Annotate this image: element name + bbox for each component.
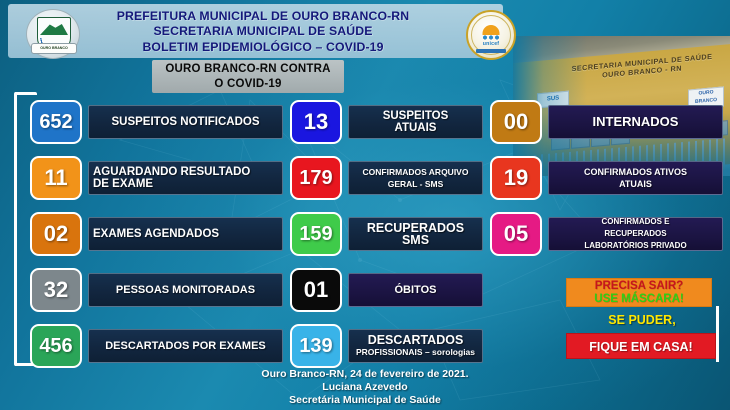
- stat-label-line-3: LABORATÓRIOS PRIVADO: [553, 240, 718, 252]
- stat-label-line-1: EXAMES AGENDADOS: [93, 228, 278, 240]
- stat-label-descartados-por-exames: DESCARTADOS POR EXAMES: [88, 329, 283, 363]
- stat-label-line-2: ATUAIS: [353, 122, 478, 134]
- stat-value-descartados-por-exames: 456: [30, 324, 82, 368]
- stat-value-pessoas-monitoradas: 32: [30, 268, 82, 312]
- stat-label-confirmados-e: CONFIRMADOS ERECUPERADOSLABORATÓRIOS PRI…: [548, 217, 723, 251]
- stat-label-line-1: CONFIRMADOS E: [553, 216, 718, 228]
- stat-label-text: ÓBITOS: [353, 284, 478, 296]
- stat-label-line-1: ÓBITOS: [353, 284, 478, 296]
- stat-value-suspeitos: 13: [290, 100, 342, 144]
- stat-label-line-1: CONFIRMADOS ARQUIVO: [353, 166, 478, 178]
- stat-label-line-2: ATUAIS: [553, 178, 718, 190]
- prevention-messages: PRECISA SAIR? USE MÁSCARA! SE PUDER, FIQ…: [566, 278, 722, 364]
- stat-label-line-2: GERAL - SMS: [353, 178, 478, 190]
- stat-label-text: RECUPERADOSSMS: [353, 222, 478, 246]
- stat-value-internados: 00: [490, 100, 542, 144]
- stat-value-bitos: 01: [290, 268, 342, 312]
- stat-value-descartados: 139: [290, 324, 342, 368]
- stat-label-text: CONFIRMADOS ERECUPERADOSLABORATÓRIOS PRI…: [553, 216, 718, 252]
- stat-value-aguardando-resultado: 11: [30, 156, 82, 200]
- stat-label-line-1: DESCARTADOS: [353, 334, 478, 346]
- stat-value-exames-agendados: 02: [30, 212, 82, 256]
- stat-label-text: DESCARTADOS POR EXAMES: [93, 340, 278, 352]
- stat-value-recuperados: 159: [290, 212, 342, 256]
- stat-label-text: EXAMES AGENDADOS: [93, 228, 278, 240]
- stat-label-bitos: ÓBITOS: [348, 273, 483, 307]
- stat-label-text: INTERNADOS: [553, 116, 718, 128]
- stat-label-line-2: PROFISSIONAIS – sorologias: [353, 346, 478, 358]
- stat-label-line-1: PESSOAS MONITORADAS: [93, 284, 278, 296]
- stat-label-recuperados: RECUPERADOSSMS: [348, 217, 483, 251]
- stat-label-line-1: SUSPEITOS NOTIFICADOS: [93, 116, 278, 128]
- messages-right-rule: [716, 306, 719, 362]
- stat-label-line-1: CONFIRMADOS ATIVOS: [553, 166, 718, 178]
- stat-label-line-1: SUSPEITOS: [353, 110, 478, 122]
- se-puder-text: SE PUDER,: [572, 311, 712, 329]
- stat-label-line-2: DE EXAME: [93, 178, 278, 190]
- stat-label-confirmados-ativos: CONFIRMADOS ATIVOSATUAIS: [548, 161, 723, 195]
- stat-label-suspeitos: SUSPEITOSATUAIS: [348, 105, 483, 139]
- use-mascara-text: USE MÁSCARA!: [567, 293, 711, 306]
- footer-signature: Ouro Branco-RN, 24 de fevereiro de 2021.…: [0, 368, 730, 407]
- footer-date: Ouro Branco-RN, 24 de fevereiro de 2021.: [0, 368, 730, 381]
- stat-label-exames-agendados: EXAMES AGENDADOS: [88, 217, 283, 251]
- stat-label-aguardando-resultado: AGUARDANDO RESULTADODE EXAME: [88, 161, 283, 195]
- stat-label-internados: INTERNADOS: [548, 105, 723, 139]
- footer-name: Luciana Azevedo: [0, 381, 730, 394]
- footer-role: Secretária Municipal de Saúde: [0, 394, 730, 407]
- stat-label-line-2: SMS: [353, 234, 478, 246]
- stat-value-confirmados-ativos: 19: [490, 156, 542, 200]
- precisa-sair-text: PRECISA SAIR?: [567, 280, 711, 293]
- stat-value-confirmados-arquivo: 179: [290, 156, 342, 200]
- stat-label-confirmados-arquivo: CONFIRMADOS ARQUIVOGERAL - SMS: [348, 161, 483, 195]
- stat-label-text: CONFIRMADOS ARQUIVOGERAL - SMS: [353, 166, 478, 190]
- bulletin-infographic: SECRETARIA MUNICIPAL DE SAÚDE OURO BRANC…: [0, 0, 730, 410]
- stat-label-line-2: RECUPERADOS: [553, 228, 718, 240]
- stat-label-text: SUSPEITOSATUAIS: [353, 110, 478, 134]
- fique-em-casa-box: FIQUE EM CASA!: [566, 333, 716, 359]
- stat-label-line-1: DESCARTADOS POR EXAMES: [93, 340, 278, 352]
- stat-label-text: CONFIRMADOS ATIVOSATUAIS: [553, 166, 718, 190]
- stat-label-text: AGUARDANDO RESULTADODE EXAME: [93, 166, 278, 190]
- stat-label-text: PESSOAS MONITORADAS: [93, 284, 278, 296]
- stat-value-suspeitos-notificados: 652: [30, 100, 82, 144]
- stat-label-text: SUSPEITOS NOTIFICADOS: [93, 116, 278, 128]
- stat-label-line-1: AGUARDANDO RESULTADO: [93, 166, 278, 178]
- stat-label-pessoas-monitoradas: PESSOAS MONITORADAS: [88, 273, 283, 307]
- stat-label-descartados: DESCARTADOSPROFISSIONAIS – sorologias: [348, 329, 483, 363]
- stat-label-text: DESCARTADOSPROFISSIONAIS – sorologias: [353, 334, 478, 358]
- stat-label-suspeitos-notificados: SUSPEITOS NOTIFICADOS: [88, 105, 283, 139]
- stat-label-line-1: INTERNADOS: [553, 116, 718, 128]
- stat-value-confirmados-e: 05: [490, 212, 542, 256]
- mask-message-box: PRECISA SAIR? USE MÁSCARA!: [566, 278, 712, 307]
